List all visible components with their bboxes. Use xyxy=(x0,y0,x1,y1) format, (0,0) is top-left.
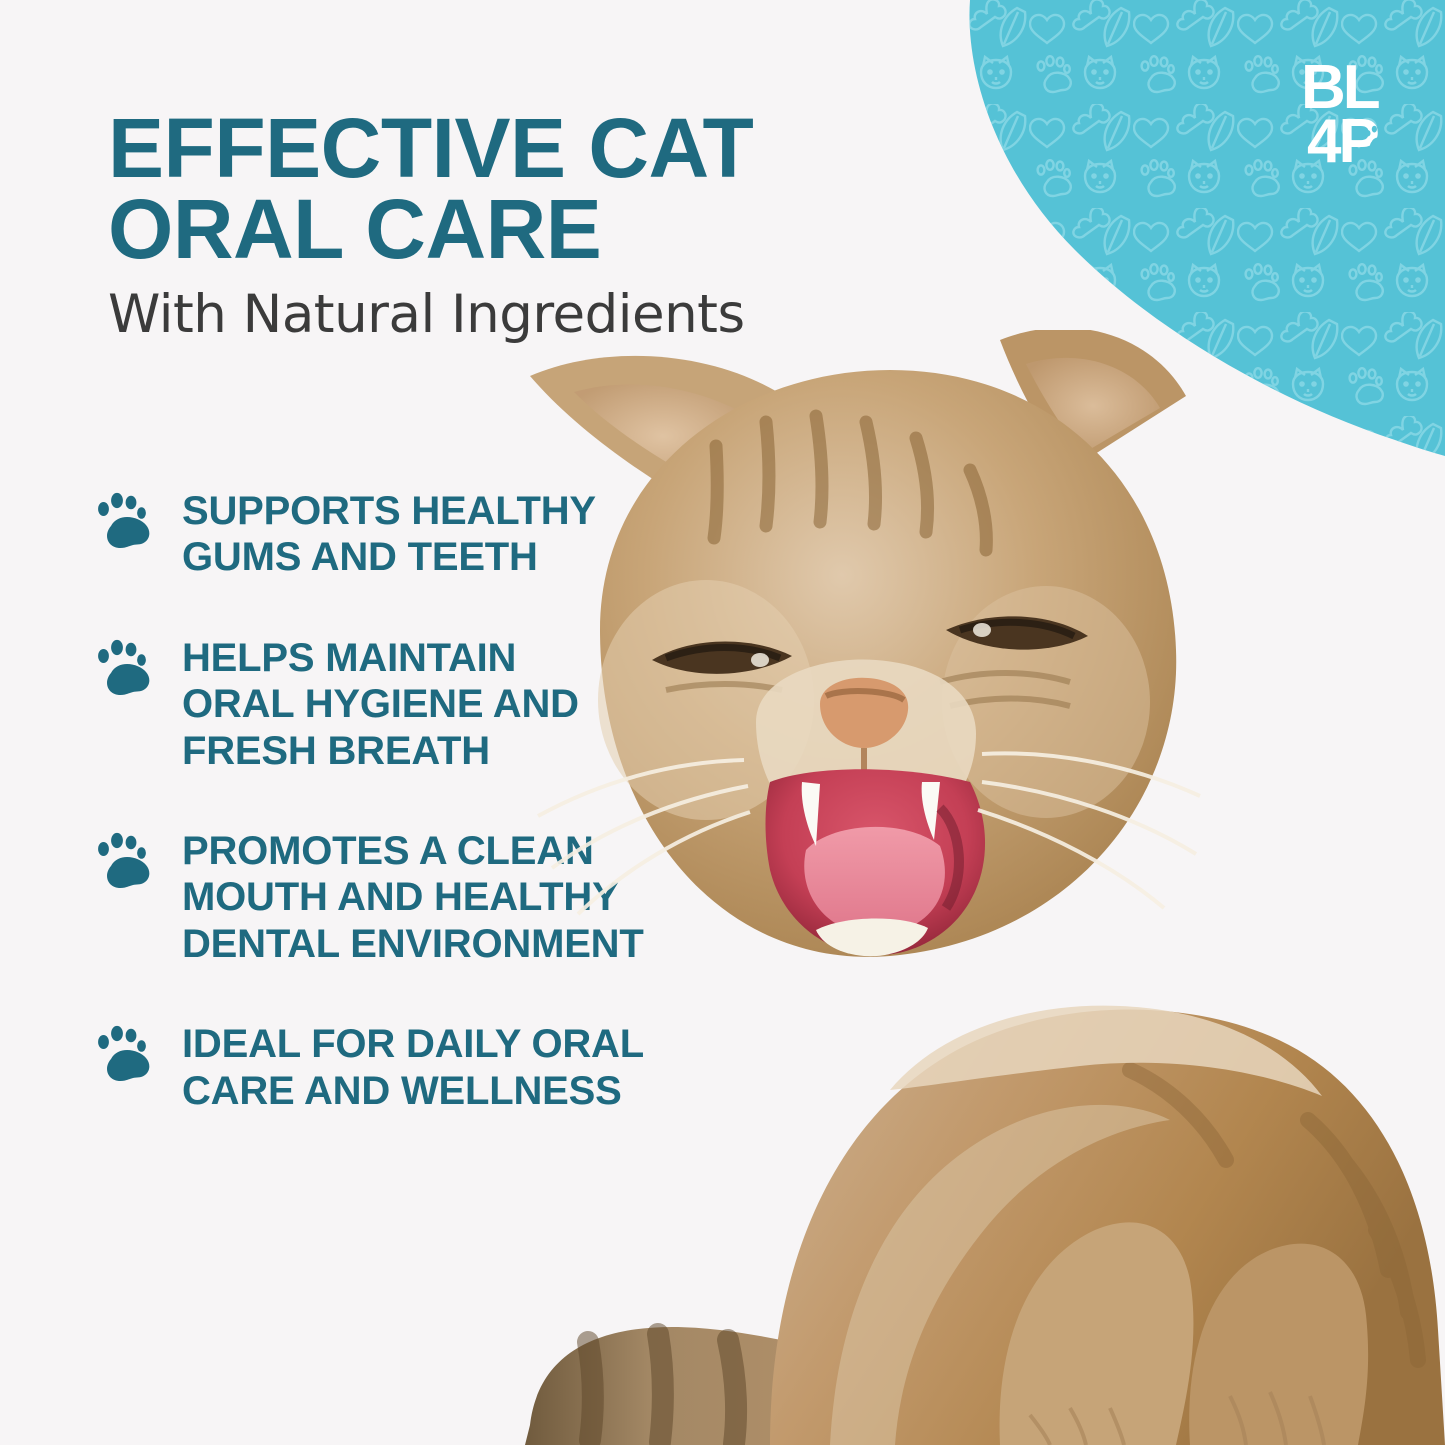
cat-product-photo xyxy=(470,330,1445,1445)
paw-print-icon xyxy=(96,1025,152,1081)
product-feature-poster: BL 4P EFFECTIVE CAT ORAL CARE With Natur… xyxy=(0,0,1445,1445)
title-line-2: ORAL CARE xyxy=(108,189,868,270)
paw-print-icon xyxy=(96,832,152,888)
brand-logo: BL 4P xyxy=(1299,52,1407,170)
logo-text-4p: 4P xyxy=(1307,107,1378,170)
title-line-1: EFFECTIVE CAT xyxy=(108,108,868,189)
page-title: EFFECTIVE CAT ORAL CARE xyxy=(108,108,868,271)
cat-body xyxy=(770,1010,1445,1445)
svg-text:4P: 4P xyxy=(1307,107,1378,170)
cat-head xyxy=(530,330,1200,957)
paw-print-icon xyxy=(96,492,152,548)
headline-block: EFFECTIVE CAT ORAL CARE With Natural Ing… xyxy=(108,108,868,343)
paw-print-icon xyxy=(96,639,152,695)
